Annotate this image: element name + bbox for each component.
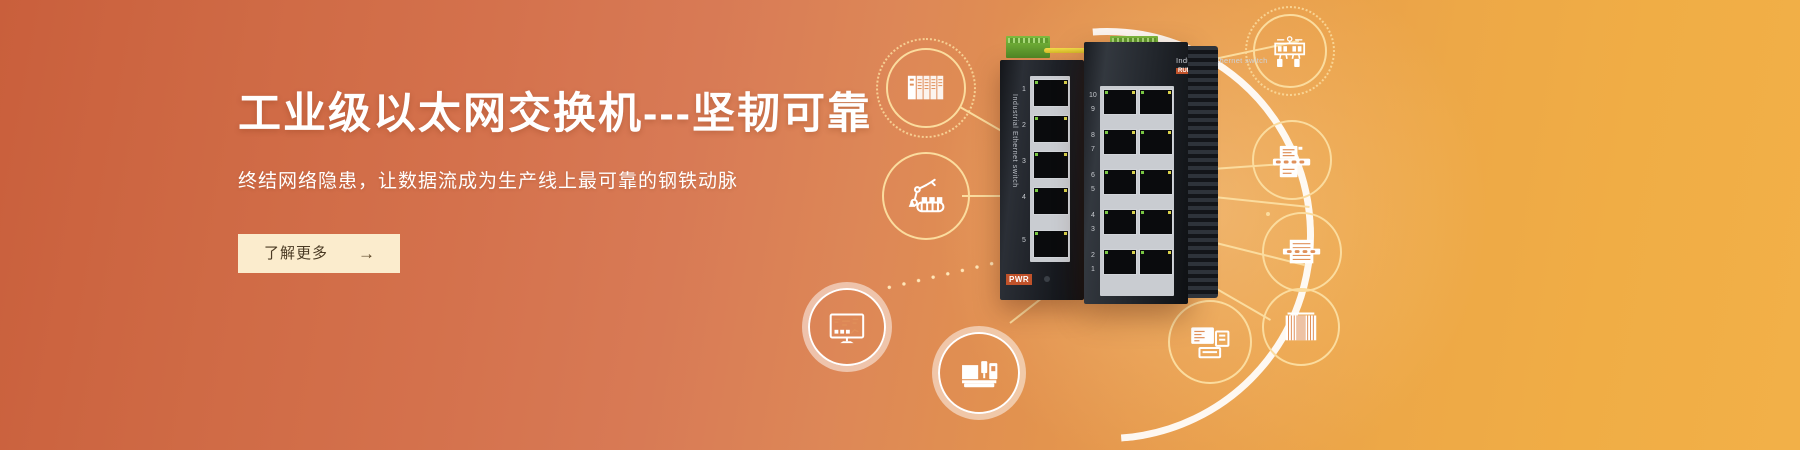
industrial-ethernet-switch: Industrial Ethernet switch 1 2 3 4 5 PWR… — [1000, 36, 1220, 311]
power-led — [1044, 276, 1050, 282]
port-7 — [1139, 129, 1173, 155]
cabinet-icon[interactable] — [1266, 212, 1270, 216]
port-1b — [1139, 249, 1173, 275]
heat-sink-fins — [1188, 46, 1218, 298]
port-3b — [1139, 209, 1173, 235]
scada-monitor-icon[interactable] — [808, 288, 886, 366]
control-panel-icon[interactable] — [1252, 120, 1332, 200]
din-rail-icon[interactable] — [1262, 212, 1342, 292]
port-3 — [1033, 151, 1069, 179]
port-5 — [1033, 230, 1069, 258]
port-8 — [1103, 129, 1137, 155]
port-2b — [1103, 249, 1137, 275]
plc-module-icon[interactable] — [886, 48, 966, 128]
cabinet-rack-icon[interactable] — [1262, 288, 1340, 366]
terminal-block-left — [1006, 36, 1050, 58]
cnc-machine-icon[interactable] — [938, 332, 1020, 414]
port-1 — [1033, 79, 1069, 107]
port-4 — [1033, 187, 1069, 215]
port-6 — [1103, 169, 1137, 195]
switch-unit-left: Industrial Ethernet switch 1 2 3 4 5 PWR — [1000, 60, 1084, 300]
power-label: PWR — [1006, 274, 1032, 285]
arrow-right-icon: → — [358, 245, 376, 262]
port-10 — [1103, 89, 1137, 115]
switch-unit-right: Industrial Ethernet switch RUN 10 9 8 7 … — [1084, 42, 1188, 304]
switch-side-label: Industrial Ethernet switch — [1004, 94, 1018, 214]
hmi-panel-icon[interactable] — [1253, 14, 1327, 88]
learn-more-button[interactable]: 了解更多 → — [238, 234, 400, 273]
port-4b — [1103, 209, 1137, 235]
learn-more-label: 了解更多 — [264, 246, 328, 261]
workstation-icon[interactable] — [1168, 300, 1252, 384]
hero-copy: 工业级以太网交换机---坚韧可靠 终结网络隐患，让数据流成为生产线上最可靠的钢铁… — [238, 88, 878, 273]
robot-arm-icon[interactable] — [882, 152, 970, 240]
page-subtitle: 终结网络隐患，让数据流成为生产线上最可靠的钢铁动脉 — [238, 168, 878, 197]
hero-banner: Industrial Ethernet switch 1 2 3 4 5 PWR… — [0, 0, 1800, 450]
page-title: 工业级以太网交换机---坚韧可靠 — [238, 88, 878, 142]
port-2 — [1033, 115, 1069, 143]
port-5b — [1139, 169, 1173, 195]
port-9 — [1139, 89, 1173, 115]
